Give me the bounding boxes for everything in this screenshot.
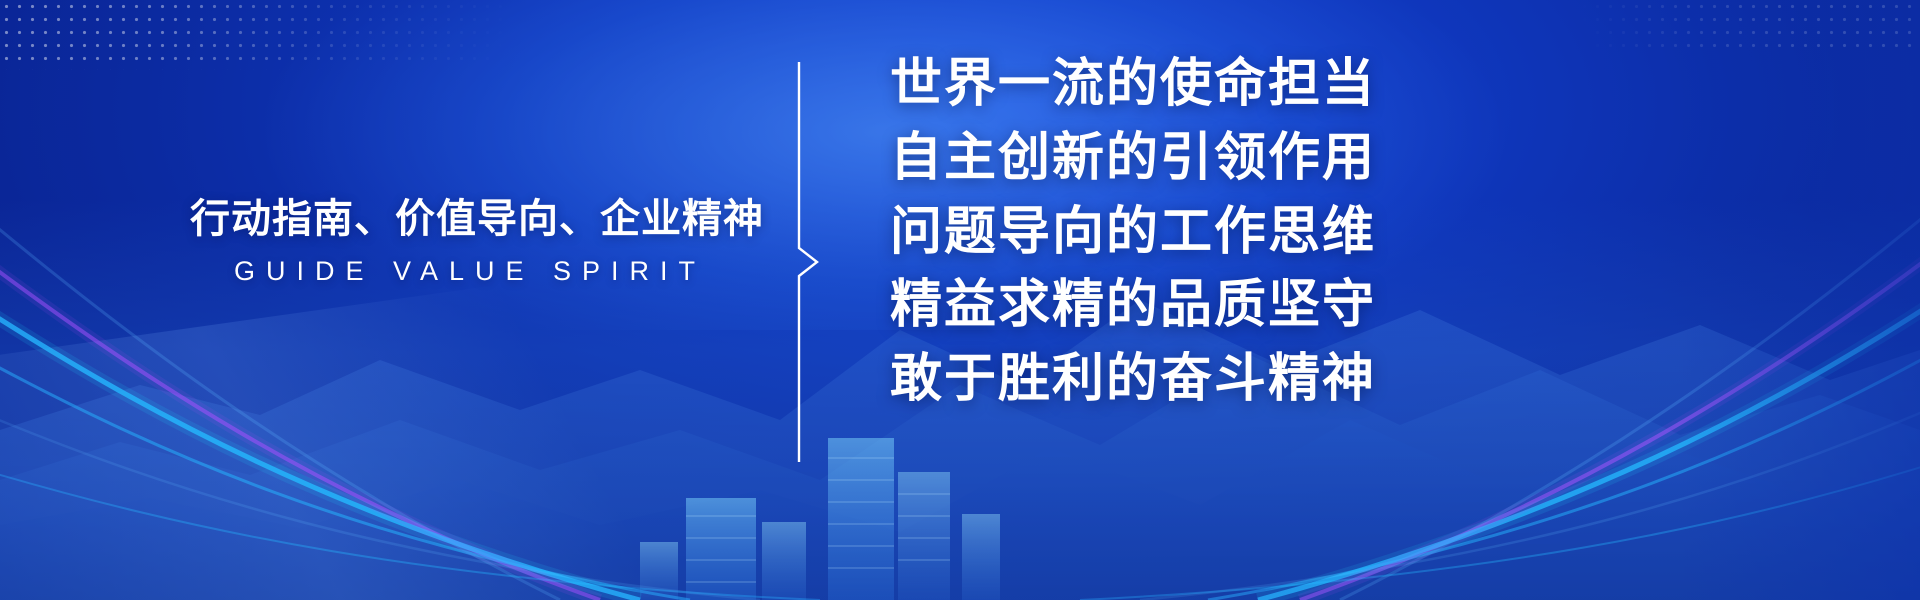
right-line-4: 精益求精的品质坚守 bbox=[890, 269, 1390, 343]
right-line-3: 问题导向的工作思维 bbox=[890, 196, 1390, 270]
vertical-bracket-arrow-icon bbox=[795, 62, 825, 462]
right-text-block: 世界一流的使命担当 自主创新的引领作用 问题导向的工作思维 精益求精的品质坚守 … bbox=[890, 48, 1390, 417]
left-title: 行动指南、价值导向、企业精神 bbox=[190, 196, 750, 242]
right-line-2: 自主创新的引领作用 bbox=[890, 122, 1390, 196]
left-text-block: 行动指南、价值导向、企业精神 GUIDE VALUE SPIRIT bbox=[190, 196, 750, 287]
corporate-culture-banner: 行动指南、价值导向、企业精神 GUIDE VALUE SPIRIT 世界一流的使… bbox=[0, 0, 1920, 600]
right-line-5: 敢于胜利的奋斗精神 bbox=[890, 343, 1390, 417]
right-line-1: 世界一流的使命担当 bbox=[890, 48, 1390, 122]
left-subtitle: GUIDE VALUE SPIRIT bbox=[190, 256, 750, 287]
